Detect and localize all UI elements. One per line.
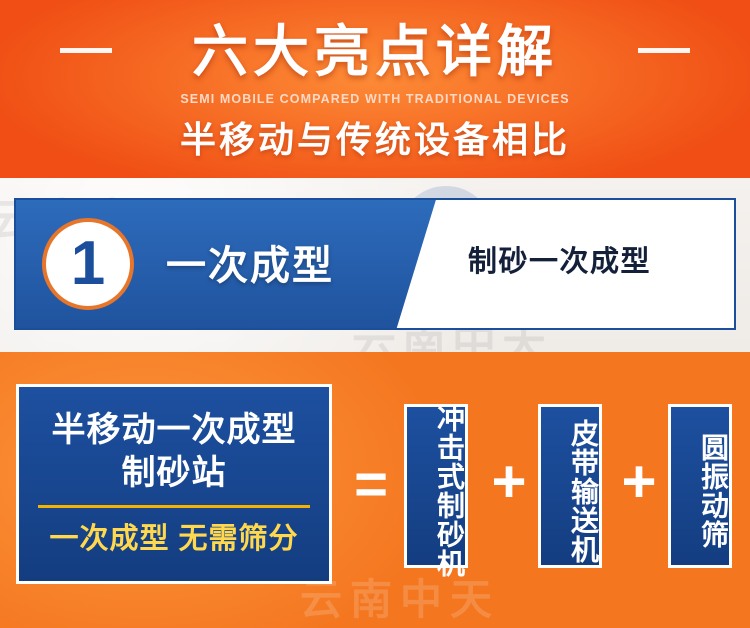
section-one-band: 云南中天 云南中天 1 一次成型 制砂一次成型 bbox=[0, 178, 750, 352]
formula-band: 半移动一次成型 制砂站 一次成型 无需筛分 = 冲击式制砂机 + 皮带输送机 +… bbox=[0, 352, 750, 628]
poster-header: 六大亮点详解 SEMI MOBILE COMPARED WITH TRADITI… bbox=[0, 0, 750, 178]
formula-main-line1: 半移动一次成型 bbox=[19, 409, 329, 451]
plus-sign-2: + bbox=[614, 452, 664, 512]
formula-main-highlight: 一次成型 无需筛分 bbox=[19, 522, 329, 556]
equals-sign: = bbox=[340, 456, 402, 514]
feature-tag-label: 一次成型 bbox=[166, 233, 334, 291]
promo-poster: 六大亮点详解 SEMI MOBILE COMPARED WITH TRADITI… bbox=[0, 0, 750, 628]
feature-description: 制砂一次成型 bbox=[468, 238, 651, 280]
subtitle-chinese: 半移动与传统设备相比 bbox=[0, 118, 750, 162]
formula-main-line2: 制砂站 bbox=[19, 451, 329, 495]
formula-component-1[interactable]: 冲击式制砂机 bbox=[404, 404, 468, 568]
formula-component-2[interactable]: 皮带输送机 bbox=[538, 404, 602, 568]
feature-number-badge: 1 bbox=[42, 218, 134, 310]
plus-sign-1: + bbox=[484, 452, 534, 512]
page-title: 六大亮点详解 bbox=[0, 22, 750, 82]
subtitle-english: SEMI MOBILE COMPARED WITH TRADITIONAL DE… bbox=[0, 92, 750, 106]
formula-component-3[interactable]: 圆振动筛 bbox=[668, 404, 732, 568]
formula-main-divider bbox=[38, 505, 310, 508]
formula-main-box[interactable]: 半移动一次成型 制砂站 一次成型 无需筛分 bbox=[16, 384, 332, 584]
feature-card-one[interactable]: 1 一次成型 制砂一次成型 bbox=[14, 198, 736, 330]
